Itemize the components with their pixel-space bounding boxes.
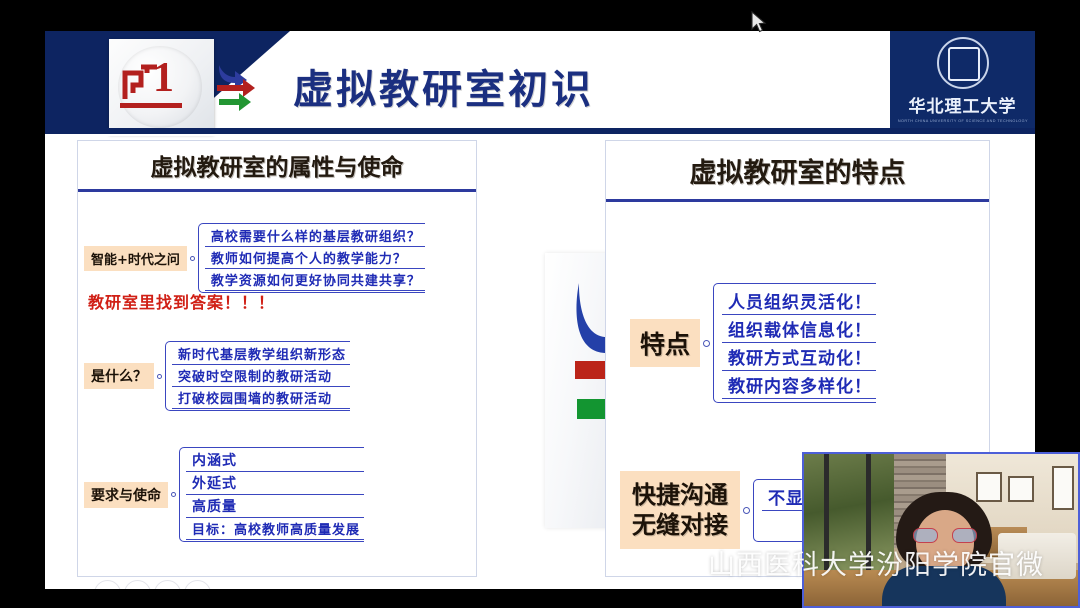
mindmap-group: 要求与使命 内涵式 外延式 高质量 目标：高校教师高质量发展 [84,447,364,542]
slide-header: 1 虚拟教研室初识 华北理工大学 NORTH CHINA UNIVERSITY … [45,31,1035,128]
pen-icon[interactable] [124,580,151,589]
annotation-toolbar[interactable] [94,580,211,589]
node-connector-dot [157,374,162,379]
seal-inner [948,47,980,81]
node-connector-dot [190,256,195,261]
leaf-item: 突破时空限制的教研活动 [172,365,350,387]
group-tag: 特点 [630,319,700,367]
mindmap-group: 是什么？ 新时代基层教学组织新形态 突破时空限制的教研活动 打破校园围墙的教研活… [84,341,350,411]
mouse-cursor [749,10,767,36]
node-connector-dot [743,507,750,514]
leaf-bracket: 内涵式 外延式 高质量 目标：高校教师高质量发展 [179,447,364,542]
group-tag: 是什么？ [84,363,154,389]
left-panel-callout: 教研室里找到答案！！！ [88,289,275,313]
leaf-item: 高校需要什么样的基层教研组织？ [205,225,425,247]
section-number-badge: 1 [109,39,214,134]
glasses-lens [913,528,938,543]
leaf-item: 新时代基层教学组织新形态 [172,343,350,365]
glasses-lens [952,528,977,543]
bg-wall-art [976,472,1002,502]
leaf-item: 教学资源如何更好协同共建共享？ [205,269,425,291]
leaf-bracket: 新时代基层教学组织新形态 突破时空限制的教研活动 打破校园围墙的教研活动 [165,341,350,411]
stamp-icon[interactable] [154,580,181,589]
university-seal-icon [937,37,989,89]
mindmap-group: 智能+时代之问 高校需要什么样的基层教研组织？ 教师如何提高个人的教学能力？ 教… [84,223,425,293]
slide-title: 虚拟教研室初识 [293,57,594,115]
badge-number: 1 [153,57,174,99]
mindmap-group: 特点 人员组织灵活化！ 组织载体信息化！ 教研方式互动化！ 教研内容多样化！ [630,283,876,403]
bg-wall-art [1052,466,1074,510]
right-panel-title: 虚拟教研室的特点 [606,141,989,199]
group-tag-line: 快捷沟通 [632,480,728,510]
right-panel-title-rule [606,199,989,202]
left-content-panel: 虚拟教研室的属性与使命 智能+时代之问 高校需要什么样的基层教研组织？ 教师如何… [77,140,477,577]
group-tag: 要求与使命 [84,482,168,508]
screen-share-stage: 1 虚拟教研室初识 华北理工大学 NORTH CHINA UNIVERSITY … [0,0,1080,608]
node-connector-dot [703,340,710,347]
left-panel-title-rule [78,189,476,192]
leaf-item: 教研方式互动化！ [722,343,876,371]
university-mark: 华北理工大学 NORTH CHINA UNIVERSITY OF SCIENCE… [900,35,1025,125]
leaf-item: 组织载体信息化！ [722,315,876,343]
leaf-item: 高质量 [186,495,364,518]
leaf-item: 打破校园围墙的教研活动 [172,387,350,409]
watermark-text: 山西医科大学汾阳学院官微 [708,543,1044,582]
badge-baseline [120,103,182,108]
channel-watermark: 山西医科大学汾阳学院官微 [666,543,1044,582]
tri-arrow-logo-icon [213,61,273,121]
left-panel-title: 虚拟教研室的属性与使命 [78,141,476,189]
leaf-bracket: 人员组织灵活化！ 组织载体信息化！ 教研方式互动化！ 教研内容多样化！ [713,283,876,403]
leaf-item: 教研内容多样化！ [722,371,876,399]
bg-wall-art [1008,476,1034,502]
group-tag-line: 无缝对接 [632,510,728,540]
university-name: 华北理工大学 [909,92,1017,117]
leaf-item: 人员组织灵活化！ [722,287,876,315]
leaf-bracket: 高校需要什么样的基层教研组织？ 教师如何提高个人的教学能力？ 教学资源如何更好协… [198,223,425,293]
wechat-icon [666,549,700,577]
play-next-icon[interactable] [94,580,121,589]
leaf-item: 外延式 [186,472,364,495]
leaf-item: 教师如何提高个人的教学能力？ [205,247,425,269]
leaf-item: 目标：高校教师高质量发展 [186,518,364,540]
webcam-video-tile[interactable] [802,452,1080,608]
group-tag: 智能+时代之问 [84,246,187,271]
participant-glasses [913,528,977,543]
node-connector-dot [171,492,176,497]
leaf-item: 内涵式 [186,449,364,472]
header-rule-gap [45,134,1035,136]
group-tag-multiline: 快捷沟通 无缝对接 [620,471,740,549]
university-subtitle: NORTH CHINA UNIVERSITY OF SCIENCE AND TE… [897,119,1027,123]
magnifier-icon[interactable] [184,580,211,589]
